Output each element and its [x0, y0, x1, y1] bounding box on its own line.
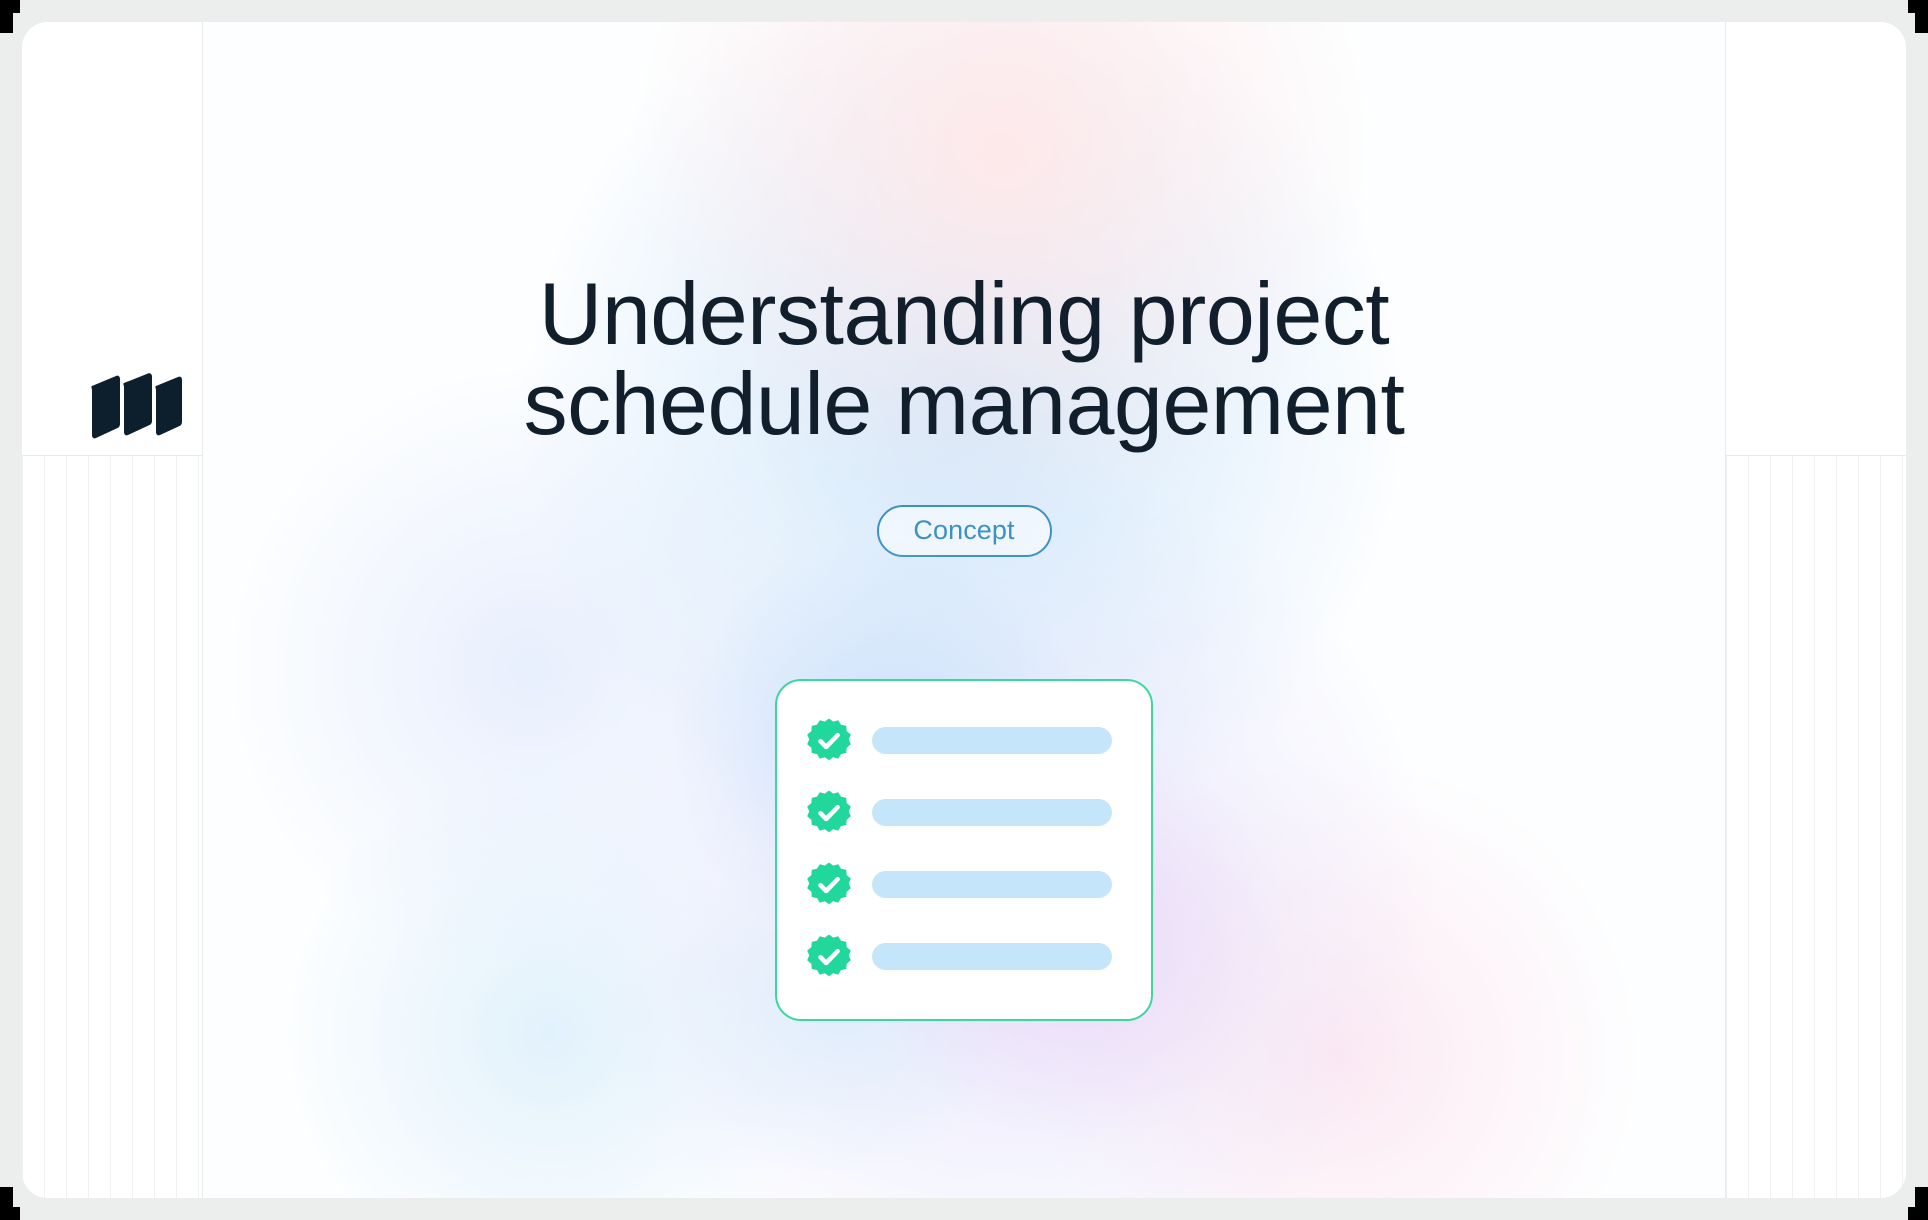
page-sheet: Understanding project schedule managemen…: [22, 22, 1906, 1198]
screenshot-root: Understanding project schedule managemen…: [0, 0, 1928, 1220]
placeholder-bar: [872, 943, 1112, 970]
list-item: [777, 717, 1151, 765]
placeholder-bar: [872, 799, 1112, 826]
placeholder-bar: [872, 871, 1112, 898]
illustration-wrapper: [774, 679, 1154, 1021]
placeholder-bar: [872, 727, 1112, 754]
badge-row: Concept: [877, 505, 1052, 557]
page-title: Understanding project schedule managemen…: [459, 269, 1469, 449]
check-badge-icon: [805, 717, 853, 765]
rail-stripes-left: [22, 456, 202, 1198]
rail-stripes-right: [1726, 456, 1906, 1198]
stacked-blocks-logo-icon[interactable]: [88, 372, 184, 446]
list-item: [777, 933, 1151, 981]
rail-divider-right: [1725, 22, 1726, 1198]
check-badge-icon: [805, 861, 853, 909]
decorative-rail-right: [1726, 22, 1906, 1198]
list-item: [777, 861, 1151, 909]
check-badge-icon: [805, 933, 853, 981]
checklist-card: [775, 679, 1153, 1021]
check-badge-icon: [805, 789, 853, 837]
concept-badge[interactable]: Concept: [877, 505, 1052, 557]
decorative-rail-left: [22, 22, 202, 1198]
main-content: Understanding project schedule managemen…: [203, 22, 1725, 1198]
list-item: [777, 789, 1151, 837]
